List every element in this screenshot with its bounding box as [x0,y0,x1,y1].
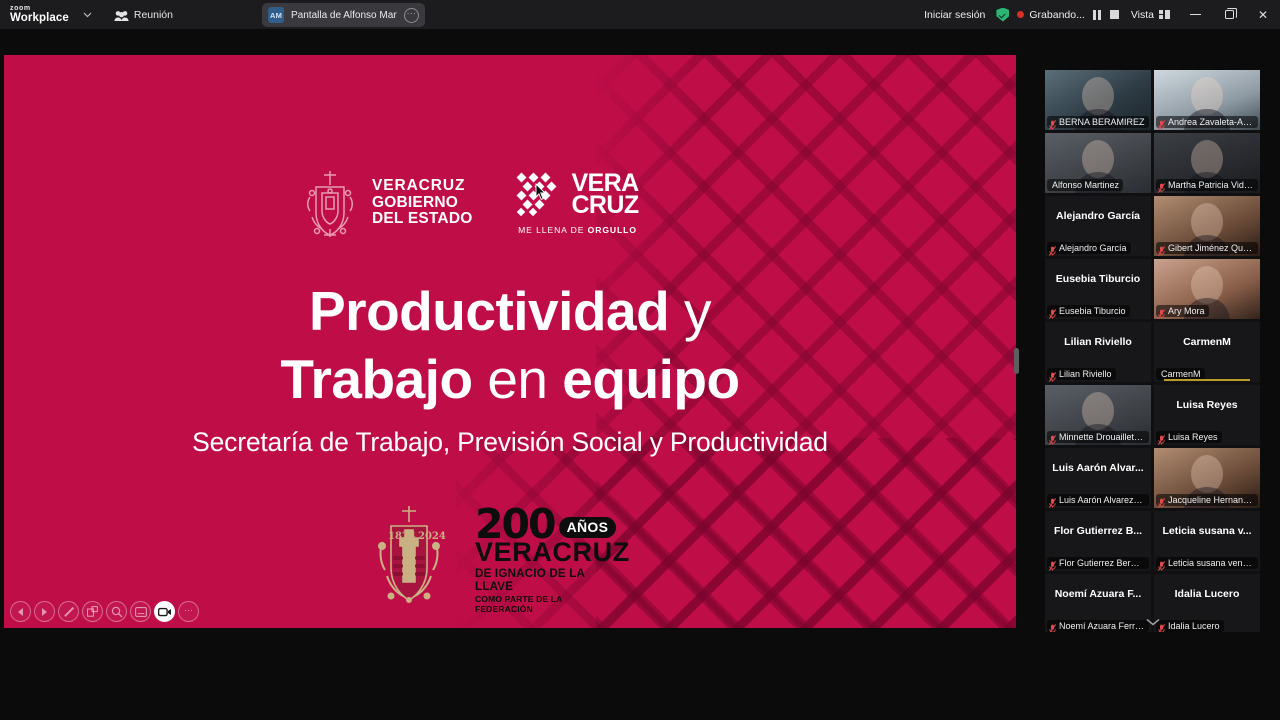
speaking-indicator [1164,379,1250,381]
slide-logo-row: VERACRUZ GOBIERNO DEL ESTADO [304,167,639,239]
headline-bold-trabajo: Trabajo [280,348,472,410]
participant-center-name: Luis Aarón Alvar... [1045,462,1151,474]
participant-name-label: Flor Gutierrez Bermu... [1059,558,1145,568]
veracruz-brand-logo: VERA CRUZ ME LLENA DE ORGULLO [516,172,638,235]
tab-title: Pantalla de Alfonso Martinez [291,10,397,21]
participant-name-label: Alejandro García [1059,243,1127,253]
tab-avatar: AM [268,7,284,23]
next-slide-button[interactable] [34,601,55,622]
zoom-logo[interactable]: zoom Workplace [10,5,69,25]
recording-label: Grabando... [1029,9,1084,21]
panel-scroll-down-chevron[interactable] [1045,615,1260,628]
participant-name-label: Minnette Drouaillet H... [1059,432,1145,442]
participant-center-name: Eusebia Tiburcio [1045,273,1151,285]
participant-name-badge: Luis Aarón Alvarez R... [1047,494,1149,506]
participant-tile[interactable]: BERNA BERAMIREZ [1045,70,1151,130]
logo200-anos-badge: AÑOS [559,517,617,538]
anniversary-emblem-row: 1824 2024 200 AÑOS VERACRUZ DE IGNACIO D… [369,502,615,605]
tab-more-icon[interactable]: ··· [404,8,419,23]
presentation-slide: VERACRUZ GOBIERNO DEL ESTADO [4,55,1016,628]
participant-tile[interactable]: Ary Mora [1154,259,1260,319]
participant-tile[interactable]: Jacqueline Hernande... [1154,448,1260,508]
participant-tile[interactable]: Eusebia TiburcioEusebia Tiburcio [1045,259,1151,319]
view-label: Vista [1131,9,1154,21]
maximize-button[interactable] [1212,0,1246,29]
microphone-muted-icon [1158,243,1165,253]
microphone-muted-icon [1049,117,1056,127]
zoom-logo-workplace-text: Workplace [10,13,69,25]
participant-name-badge: Gibert Jiménez Quez... [1156,242,1258,254]
close-button[interactable]: ✕ [1246,0,1280,29]
participant-tile[interactable]: Alejandro GarcíaAlejandro García [1045,196,1151,256]
participant-center-name: Flor Gutierrez B... [1045,525,1151,537]
participant-center-name: Noemí Azuara F... [1045,588,1151,600]
view-button[interactable]: Vista [1123,9,1178,21]
participant-tile[interactable]: Luisa ReyesLuisa Reyes [1154,385,1260,445]
headline-plain-y: y [669,280,711,342]
participant-tile[interactable]: CarmenMCarmenM [1154,322,1260,382]
participant-name-badge: Leticia susana ventur... [1156,557,1258,569]
pause-recording-icon[interactable] [1093,10,1102,20]
slide-subtitle: Secretaría de Trabajo, Previsión Social … [4,427,1016,458]
participant-tile[interactable]: Minnette Drouaillet H... [1045,385,1151,445]
brand-tagline-normal: ME LLENA DE [518,225,588,235]
minimize-button[interactable] [1178,0,1212,29]
stage-vertical-scrollbar[interactable] [1014,348,1019,374]
microphone-muted-icon [1158,117,1165,127]
pen-icon [64,607,74,617]
participant-name-label: Eusebia Tiburcio [1059,306,1126,316]
participant-name-badge: Jacqueline Hernande... [1156,494,1258,506]
participants-video-panel[interactable]: BERNA BERAMIREZAndrea Zavaleta-AbadAlfon… [1045,70,1260,632]
emblem-year-right: 2024 [418,531,446,542]
previous-slide-button[interactable] [10,601,31,622]
layout-grid-icon [1159,10,1170,20]
participant-tile[interactable]: Flor Gutierrez B...Flor Gutierrez Bermu.… [1045,511,1151,571]
participant-center-name: Luisa Reyes [1154,399,1260,411]
headline-bold-equipo: equipo [562,348,739,410]
microphone-muted-icon [1049,495,1056,505]
participant-name-badge: Lilian Riviello [1047,368,1116,380]
shared-screen-tab[interactable]: AM Pantalla de Alfonso Martinez ··· [262,3,425,27]
participant-tile[interactable]: Gibert Jiménez Quez... [1154,196,1260,256]
annotate-button[interactable] [58,601,79,622]
participant-tile[interactable]: Leticia susana v...Leticia susana ventur… [1154,511,1260,571]
meeting-tab[interactable]: Reunión [110,0,177,29]
microphone-muted-icon [1158,306,1165,316]
participant-name-badge: BERNA BERAMIREZ [1047,116,1149,128]
microphone-muted-icon [1158,432,1165,442]
participant-name-badge: Andrea Zavaleta-Abad [1156,116,1258,128]
participant-name-label: Luisa Reyes [1168,432,1218,442]
video-toggle-button[interactable] [154,601,175,622]
participant-name-badge: Flor Gutierrez Bermu... [1047,557,1149,569]
participant-name-badge: Eusebia Tiburcio [1047,305,1130,317]
participant-name-label: Lilian Riviello [1059,369,1112,379]
sign-in-button[interactable]: Iniciar sesión [917,9,992,21]
anniversary-200-logo: 200 AÑOS VERACRUZ DE IGNACIO DE LA LLAVE… [475,506,615,602]
participant-name-label: Gibert Jiménez Quez... [1168,243,1254,253]
participant-name-badge: Luisa Reyes [1156,431,1222,443]
participant-name-label: Alfonso Martinez [1052,180,1119,190]
headline-line-2: Trabajo en equipo [4,345,1016,413]
participant-name-label: Jacqueline Hernande... [1168,495,1254,505]
veracruz-crest-icon [304,167,356,239]
more-options-button[interactable]: ··· [178,601,199,622]
shield-check-icon[interactable] [996,8,1009,22]
shared-screen-stage[interactable]: VERACRUZ GOBIERNO DEL ESTADO [4,55,1016,628]
participant-name-badge: Minnette Drouaillet H... [1047,431,1149,443]
logo200-sub1: DE IGNACIO DE LA LLAVE [475,567,615,593]
brand-tagline-bold: ORGULLO [588,225,637,235]
participant-center-name: Lilian Riviello [1045,336,1151,348]
participant-tile[interactable]: Luis Aarón Alvar...Luis Aarón Alvarez R.… [1045,448,1151,508]
headline-line-1: Productividad y [4,277,1016,345]
headline-plain-en: en [473,348,563,410]
titlebar-right-group: Iniciar sesión Grabando... Vista ✕ [917,0,1280,29]
participant-center-name: Idalia Lucero [1154,588,1260,600]
record-dot-icon [1017,11,1024,18]
participant-name-label: Martha Patricia Vidañ... [1168,180,1254,190]
microphone-muted-icon [1158,495,1165,505]
emblem-year-left: 1824 [388,531,416,542]
participant-name-label: CarmenM [1161,369,1201,379]
zoom-logo-small-text: zoom [10,5,69,12]
recording-status[interactable]: Grabando... [1013,9,1122,21]
participant-name-label: BERNA BERAMIREZ [1059,117,1145,127]
meeting-tab-label: Reunión [134,9,173,21]
microphone-muted-icon [1049,369,1056,379]
participant-name-label: Leticia susana ventur... [1168,558,1254,568]
notes-button[interactable] [130,601,151,622]
participant-center-name: Leticia susana v... [1154,525,1260,537]
microphone-muted-icon [1049,306,1056,316]
microphone-muted-icon [1049,243,1056,253]
zoom-app-window: zoom Workplace Reunión AM Pantalla de Al… [0,0,1280,720]
microphone-muted-icon [1158,558,1165,568]
triangle-left-icon [18,608,23,616]
headline-bold-productividad: Productividad [309,280,669,342]
microphone-muted-icon [1158,180,1165,190]
people-icon [114,9,128,21]
participant-tile[interactable]: Lilian RivielloLilian Riviello [1045,322,1151,382]
participant-tile[interactable]: Andrea Zavaleta-Abad [1154,70,1260,130]
microphone-muted-icon [1049,558,1056,568]
gov-logo-text: VERACRUZ GOBIERNO DEL ESTADO [372,178,472,228]
slide-headline: Productividad y Trabajo en equipo [4,277,1016,413]
participant-name-badge: Alejandro García [1047,242,1131,254]
participant-name-label: Ary Mora [1168,306,1205,316]
participant-name-badge: Martha Patricia Vidañ... [1156,179,1258,191]
logo200-sub2: COMO PARTE DE LA FEDERACIÓN [475,594,615,614]
mouse-cursor-icon [535,183,547,201]
chevron-down-icon[interactable] [83,0,92,29]
microphone-muted-icon [1049,432,1056,442]
participant-name-badge: Ary Mora [1156,305,1209,317]
logo200-veracruz: VERACRUZ [475,539,615,566]
participant-name-label: Luis Aarón Alvarez R... [1059,495,1145,505]
layout-button[interactable] [82,601,103,622]
gov-logo-line3: DEL ESTADO [372,211,472,228]
participant-tile[interactable]: Martha Patricia Vidañ... [1154,133,1260,193]
zoom-magnifier-button[interactable] [106,601,127,622]
participant-center-name: Alejandro García [1045,210,1151,222]
anniversary-shield-icon: 1824 2024 [369,502,449,605]
veracruz-government-logo: VERACRUZ GOBIERNO DEL ESTADO [304,167,472,239]
brand-tagline: ME LLENA DE ORGULLO [516,225,638,235]
triangle-right-icon [42,608,47,616]
participant-name-label: Andrea Zavaleta-Abad [1168,117,1254,127]
participant-name-badge: Alfonso Martinez [1047,179,1123,191]
participant-center-name: CarmenM [1154,336,1260,348]
participant-tile[interactable]: Alfonso Martinez [1045,133,1151,193]
brand-word-cruz: CRUZ [571,195,638,217]
window-controls: ✕ [1178,0,1280,29]
screen-share-toolbar: ··· [8,599,201,624]
gov-logo-line1: VERACRUZ [372,178,472,195]
titlebar: zoom Workplace Reunión AM Pantalla de Al… [0,0,1280,29]
gov-logo-line2: GOBIERNO [372,195,472,212]
brand-logo-words: VERA CRUZ [571,173,638,216]
stop-recording-icon[interactable] [1110,10,1119,19]
